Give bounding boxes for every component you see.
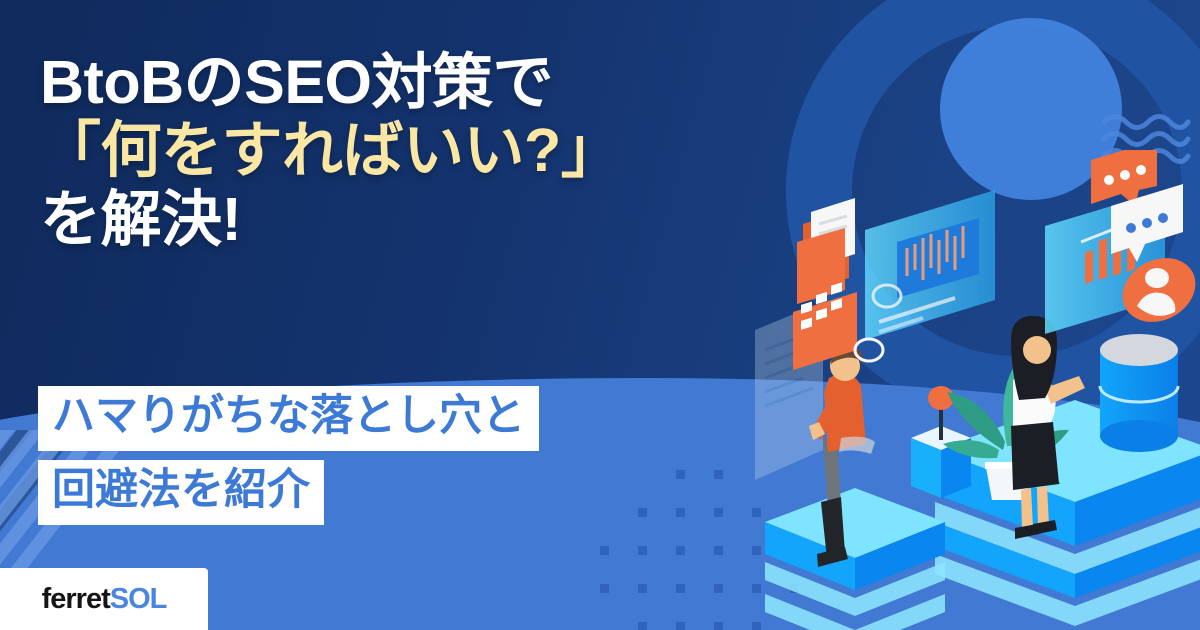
headline-line-2: 「何をすればいい?」 bbox=[40, 116, 800, 184]
headline-line-3: を解決! bbox=[40, 185, 800, 253]
subtitle-box-2: 回避法を紹介 bbox=[38, 460, 324, 525]
logo-tab[interactable]: ferretSOL bbox=[0, 568, 208, 630]
headline-line-1: BtoBのSEO対策で bbox=[40, 48, 800, 116]
folder-icon bbox=[797, 198, 855, 304]
isometric-illustration bbox=[745, 150, 1200, 630]
logo-secondary-text: SOL bbox=[110, 583, 167, 615]
subtitle-box-1: ハマりがちな落とし穴と bbox=[38, 386, 539, 451]
database-cylinder-icon bbox=[1100, 334, 1178, 452]
headline-group: BtoBのSEO対策で 「何をすればいい?」 を解決! bbox=[40, 48, 800, 253]
candlestick-chart-screen bbox=[865, 190, 995, 340]
stacked-platform-left bbox=[765, 488, 945, 630]
banner-root: BtoBのSEO対策で 「何をすればいい?」 を解決! ハマりがちな落とし穴と … bbox=[0, 0, 1200, 630]
logo-wordmark: ferretSOL bbox=[42, 583, 167, 616]
subtitle-group: ハマりがちな落とし穴と 回避法を紹介 bbox=[38, 386, 539, 534]
logo-primary-text: ferret bbox=[42, 583, 110, 615]
